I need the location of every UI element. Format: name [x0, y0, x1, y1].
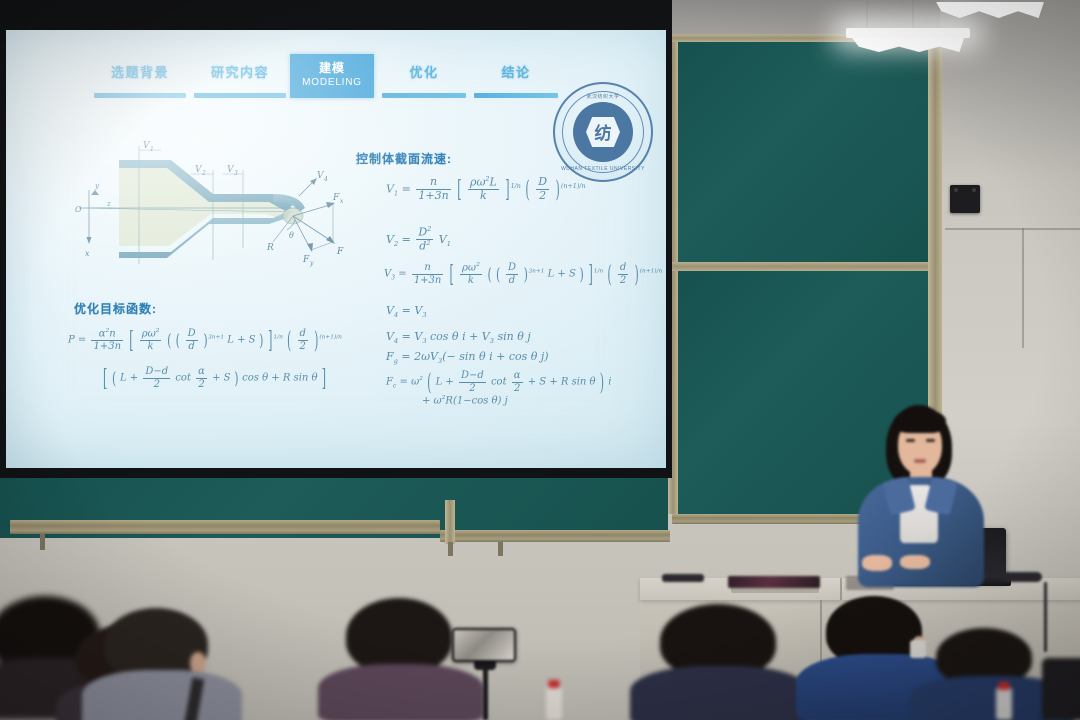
ceiling-light-far: [930, 0, 1050, 40]
tab-modeling-label-en: MODELING: [290, 77, 374, 88]
diagram-svg: V1 V2 V3 V4 Fx Fy F R θ O x y z: [61, 138, 351, 273]
wall-seam-horizontal: [945, 228, 1080, 230]
tab-optimization-label: 优化: [378, 62, 470, 81]
tab-conclusion[interactable]: 结论: [470, 62, 562, 98]
bottle-cap-2: [999, 682, 1010, 690]
tab-research-content[interactable]: 研究内容: [190, 62, 290, 98]
audience-4-body: [318, 664, 484, 720]
heading-optimization-objective: 优化目标函数:: [74, 300, 157, 317]
bag-lower-right: [1042, 658, 1080, 720]
svg-text:y: y: [94, 182, 100, 190]
tab-optimization-underline: [382, 93, 466, 98]
svg-text:3: 3: [234, 170, 238, 177]
wall-seam-vertical: [1022, 228, 1024, 348]
tab-research-content-label: 研究内容: [190, 62, 290, 81]
logo-text-english: WUHAN TEXTILE UNIVERSITY: [555, 166, 651, 172]
presenter: [838, 405, 998, 585]
logo-disc: 纺: [573, 102, 633, 162]
chalk-tray-divider: [445, 500, 455, 544]
chalk-tray-right: [440, 530, 670, 542]
podium-cable-left: [662, 574, 704, 582]
formula-centrifugal-force: Fc = ω2 ( L + D−d2 cot α2 + S + R sin θ …: [386, 370, 611, 394]
svg-text:2: 2: [201, 170, 206, 177]
water-bottle-2: [996, 688, 1012, 720]
svg-text:4: 4: [323, 176, 328, 183]
svg-text:F: F: [336, 247, 344, 257]
tab-modeling-label-cn: 建模: [290, 59, 374, 76]
presenter-hair-fringe: [894, 409, 946, 433]
formula-v2: V2 = D2d2 V1: [386, 226, 451, 254]
tab-background-label: 选题背景: [90, 62, 190, 81]
formula-v3: V3 = n1+3n [ ρω2k ( ( Dd )3n+1 L + S ) ]…: [384, 262, 662, 286]
tab-conclusion-underline: [474, 93, 558, 98]
tab-conclusion-label: 结论: [470, 62, 562, 81]
presenter-hand-right: [900, 555, 930, 569]
podium-cable-coil: [1000, 572, 1042, 582]
lecture-hall-photo: 选题背景 研究内容 建模 MODELING 优化 结论: [0, 0, 1080, 720]
presenter-mouth: [914, 459, 926, 463]
svg-text:θ: θ: [289, 231, 294, 240]
svg-text:x: x: [340, 198, 344, 205]
tab-modeling[interactable]: 建模 MODELING: [290, 54, 374, 98]
svg-text:F: F: [332, 193, 340, 203]
tab-background-underline: [94, 93, 186, 98]
logo-text-chinese: 武汉纺织大学: [555, 93, 651, 100]
presenter-eye-left: [906, 439, 915, 442]
presenter-hand-left: [862, 555, 892, 571]
formula-coriolis-force: Fg = 2ωV3(− sin θ i + cos θ j): [386, 350, 549, 365]
audience-phone-recording[interactable]: [452, 628, 516, 662]
heading-control-volume-velocity: 控制体截面流速:: [356, 150, 452, 167]
water-bottle-1: [546, 686, 562, 720]
blackboard-upper: [678, 40, 928, 262]
presenter-eye-right: [926, 439, 935, 442]
svg-text:z: z: [106, 200, 111, 208]
svg-text:x: x: [85, 249, 90, 258]
formula-v1: V1 = n1+3n [ ρω2Lk ]1/n ( D2 )(n+1)/n: [386, 176, 586, 203]
svg-text:R: R: [266, 243, 274, 253]
audience-5-body: [630, 666, 810, 720]
svg-text:O: O: [75, 205, 82, 214]
tab-optimization[interactable]: 优化: [378, 62, 470, 98]
chalk-tray-leg-1: [40, 534, 45, 550]
chalk-tray-left: [10, 520, 440, 534]
nozzle-control-volume-diagram: V1 V2 V3 V4 Fx Fy F R θ O x y z: [61, 138, 351, 273]
audience-member-5: [640, 604, 800, 720]
tab-background[interactable]: 选题背景: [90, 62, 190, 98]
formula-objective-line1: P = α2n1+3n [ ρω2k ( ( Dd )3n+1 L + S ) …: [68, 328, 342, 352]
chalk-tray-leg-3: [498, 542, 503, 556]
formula-v4-vector: V4 = V3 cos θ i + V3 sin θ j: [386, 330, 531, 345]
logo-glyph: 纺: [595, 119, 612, 144]
audience-3-body: [82, 670, 242, 720]
formula-v4-equals-v3: V4 = V3: [386, 304, 427, 319]
audience-member-3: [82, 608, 232, 720]
tab-research-content-underline: [194, 93, 286, 98]
audience-4-hair: [346, 598, 452, 674]
svg-text:F: F: [302, 255, 310, 265]
podium-desk-mat: [728, 576, 820, 588]
wall-mount-bracket: [950, 185, 980, 213]
chalk-tray-leg-2: [448, 542, 453, 556]
formula-objective-line2: [ ( L + D−d2 cot α2 + S ) cos θ + R sin …: [102, 366, 327, 390]
svg-text:y: y: [309, 260, 314, 267]
projected-slide: 选题背景 研究内容 建模 MODELING 优化 结论: [6, 30, 666, 468]
phone-screen-preview: [454, 630, 514, 660]
formula-centrifugal-force-cont: + ω2R(1−cos θ) j: [422, 395, 508, 406]
phone-tripod-stand: [483, 665, 488, 720]
blackboard-rail-middle: [668, 262, 938, 271]
slide-nav-tabs: 选题背景 研究内容 建模 MODELING 优化 结论: [90, 58, 545, 102]
bottle-cap-1: [549, 680, 560, 688]
svg-text:1: 1: [150, 146, 154, 153]
university-logo: 武汉纺织大学 纺 WUHAN TEXTILE UNIVERSITY: [553, 82, 653, 182]
